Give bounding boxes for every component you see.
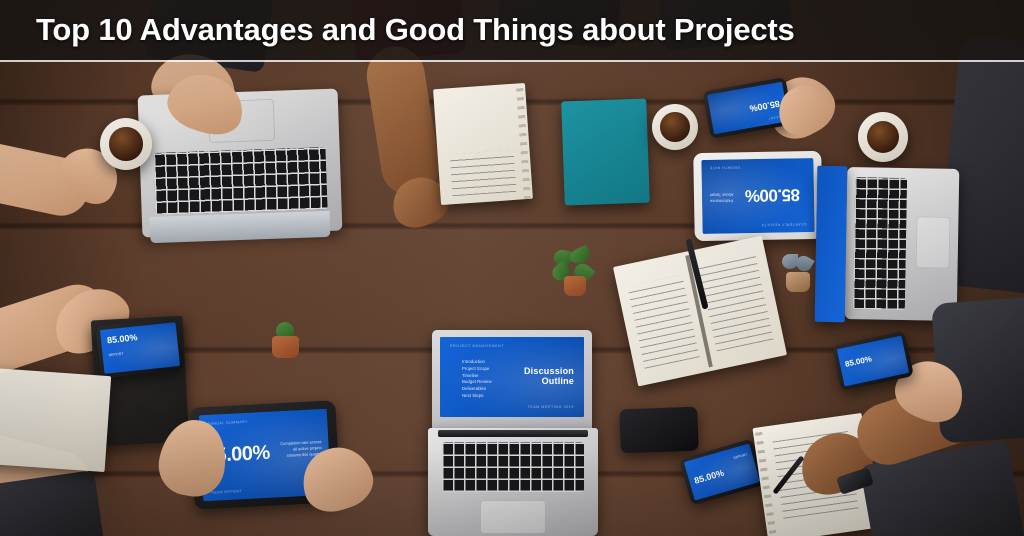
tablet-top-right-screen: QUARTERLY RESULTS 85.00% Performance Abo… [701, 158, 814, 234]
tablet-slide-caption: Performance Above Target [710, 191, 734, 204]
coffee-mug-left [100, 118, 152, 170]
laptop-right-trackpad [916, 216, 951, 269]
laptop-center-trackpad [480, 500, 546, 534]
header-photo: REPORT 85.00% QUARTERLY RESULTS 85.00% P… [0, 0, 1024, 536]
potted-plant-right [778, 252, 818, 296]
banner-divider [0, 60, 1024, 62]
laptop-slide-title: Discussion Outline [512, 367, 574, 387]
laptop-slide-bullets: Introduction Project Scope Timeline Budg… [462, 359, 492, 400]
potted-plant-center [552, 248, 596, 300]
notebook-spiral-top [433, 83, 533, 205]
laptop-top-left-keyboard [154, 147, 328, 215]
coffee-mug-center [652, 104, 698, 150]
phone-left-screen: 85.00% REPORT [100, 322, 180, 374]
paper-left-stack [0, 368, 111, 472]
phone-left-caption: REPORT [108, 352, 123, 359]
tablet-bl-micro-top: ANNUAL SUMMARY [207, 420, 248, 426]
phone-left[interactable]: 85.00% REPORT [96, 318, 185, 378]
laptop-right-keyboard [853, 177, 907, 310]
tablet-slide-value: 85.00% [745, 184, 800, 205]
phone-right[interactable] [619, 407, 698, 454]
potted-plant-left [268, 322, 304, 360]
notebook-handwriting [450, 150, 517, 196]
laptop-center-lid: PROJECT MANAGEMENT Introduction Project … [432, 330, 592, 430]
laptop-slide-micro-top: PROJECT MANAGEMENT [450, 344, 504, 348]
phone-bottom-caption: REPORT [733, 452, 748, 461]
laptop-slide-micro-bottom: TEAM MEETING 2019 [527, 405, 574, 409]
succulent-pot [786, 272, 810, 292]
laptop-center-hinge [438, 430, 588, 437]
coffee-mug-right [858, 112, 908, 162]
plant-pot [564, 276, 586, 296]
phone-top-right-screen: REPORT 85.00% [707, 82, 789, 135]
tablet-bl-micro-bottom: TEAM REPORT [211, 489, 243, 495]
person-bottom-left-sleeve [0, 470, 105, 536]
article-header: REPORT 85.00% QUARTERLY RESULTS 85.00% P… [0, 0, 1024, 536]
laptop-right [845, 167, 960, 321]
laptop-center-screen: PROJECT MANAGEMENT Introduction Project … [440, 337, 584, 417]
laptop-center-base [428, 428, 598, 536]
laptop-right-screen [815, 166, 848, 322]
phone-slide-value: 85.00% [749, 99, 781, 114]
tablet-slide-micro-bottom: GROWTH RATE [709, 165, 740, 170]
phone-right-held-screen: 85.00% [837, 336, 909, 387]
notebook-teal [561, 99, 650, 206]
page-title: Top 10 Advantages and Good Things about … [0, 12, 795, 48]
notebook-open-handwriting-left [627, 275, 699, 369]
tablet-top-right[interactable]: QUARTERLY RESULTS 85.00% Performance Abo… [693, 151, 823, 241]
tablet-slide-micro-top: QUARTERLY RESULTS [761, 222, 806, 227]
laptop-center-keyboard [442, 442, 584, 492]
phone-right-held-value: 85.00% [844, 354, 872, 368]
notebook-open-handwriting-right [698, 251, 773, 351]
cactus-pot [272, 336, 299, 358]
title-banner: Top 10 Advantages and Good Things about … [0, 0, 1024, 60]
phone-bottom-value: 85.00% [693, 468, 725, 486]
phone-left-value: 85.00% [107, 332, 138, 345]
